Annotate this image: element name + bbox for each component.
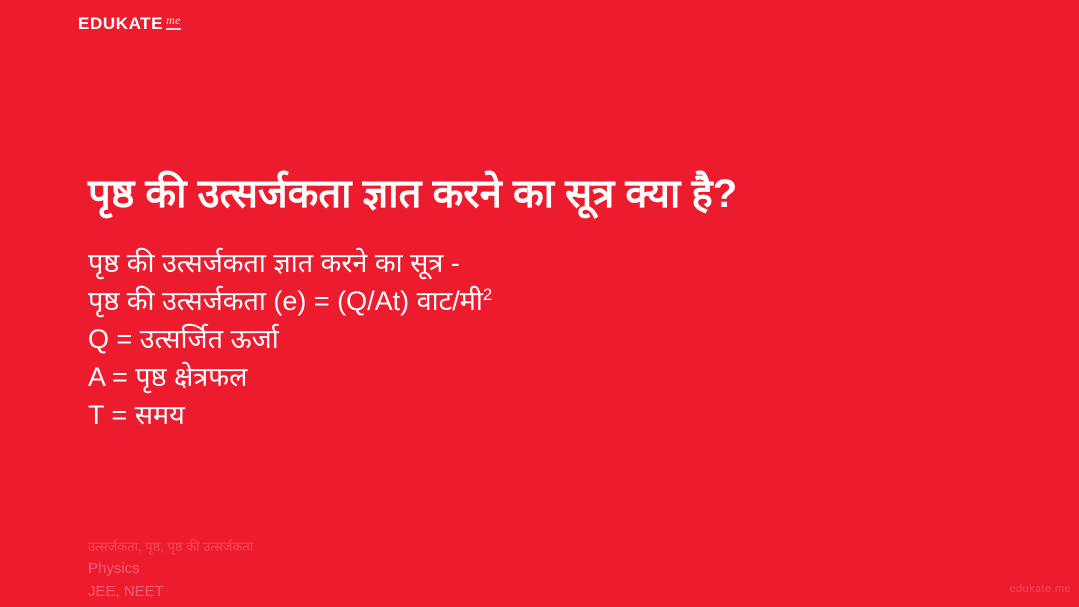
answer-line: पृष्ठ की उत्सर्जकता ज्ञात करने का सूत्र … bbox=[88, 244, 988, 282]
answer-line: A = पृष्ठ क्षेत्रफल bbox=[88, 358, 988, 396]
brand-logo-primary-text: EDUKATE bbox=[78, 14, 163, 34]
footer-tags[interactable]: उत्सर्जकता, पृष्ठ, पृष्ठ की उत्सर्जकता bbox=[88, 536, 688, 557]
footer-subject[interactable]: Physics bbox=[88, 557, 688, 580]
brand-logo[interactable]: EDUKATE me bbox=[78, 14, 181, 40]
brand-logo-suffix-group: me bbox=[166, 14, 181, 30]
answer-body: पृष्ठ की उत्सर्जकता ज्ञात करने का सूत्र … bbox=[88, 244, 988, 434]
answer-line: T = समय bbox=[88, 396, 988, 434]
answer-line-text: पृष्ठ की उत्सर्जकता (e) = (Q/At) वाट/मी bbox=[88, 286, 483, 316]
brand-logo-underline bbox=[166, 28, 181, 30]
answer-line-text: Q = उत्सर्जित ऊर्जा bbox=[88, 324, 279, 354]
answer-line-superscript: 2 bbox=[483, 285, 492, 304]
slide-canvas: EDUKATE me पृष्ठ की उत्सर्जकता ज्ञात करन… bbox=[0, 0, 1079, 607]
answer-line-text: A = पृष्ठ क्षेत्रफल bbox=[88, 362, 247, 392]
answer-line-text: T = समय bbox=[88, 400, 185, 430]
question-title: पृष्ठ की उत्सर्जकता ज्ञात करने का सूत्र … bbox=[88, 167, 1008, 221]
corner-watermark: edukate.me bbox=[1010, 583, 1071, 596]
answer-line: Q = उत्सर्जित ऊर्जा bbox=[88, 320, 988, 358]
footer-exams[interactable]: JEE, NEET bbox=[88, 580, 688, 603]
brand-logo-suffix-text: me bbox=[166, 14, 181, 26]
answer-line-text: पृष्ठ की उत्सर्जकता ज्ञात करने का सूत्र … bbox=[88, 248, 460, 278]
footer-meta: उत्सर्जकता, पृष्ठ, पृष्ठ की उत्सर्जकता P… bbox=[88, 536, 688, 603]
answer-line: पृष्ठ की उत्सर्जकता (e) = (Q/At) वाट/मी2 bbox=[88, 282, 988, 320]
